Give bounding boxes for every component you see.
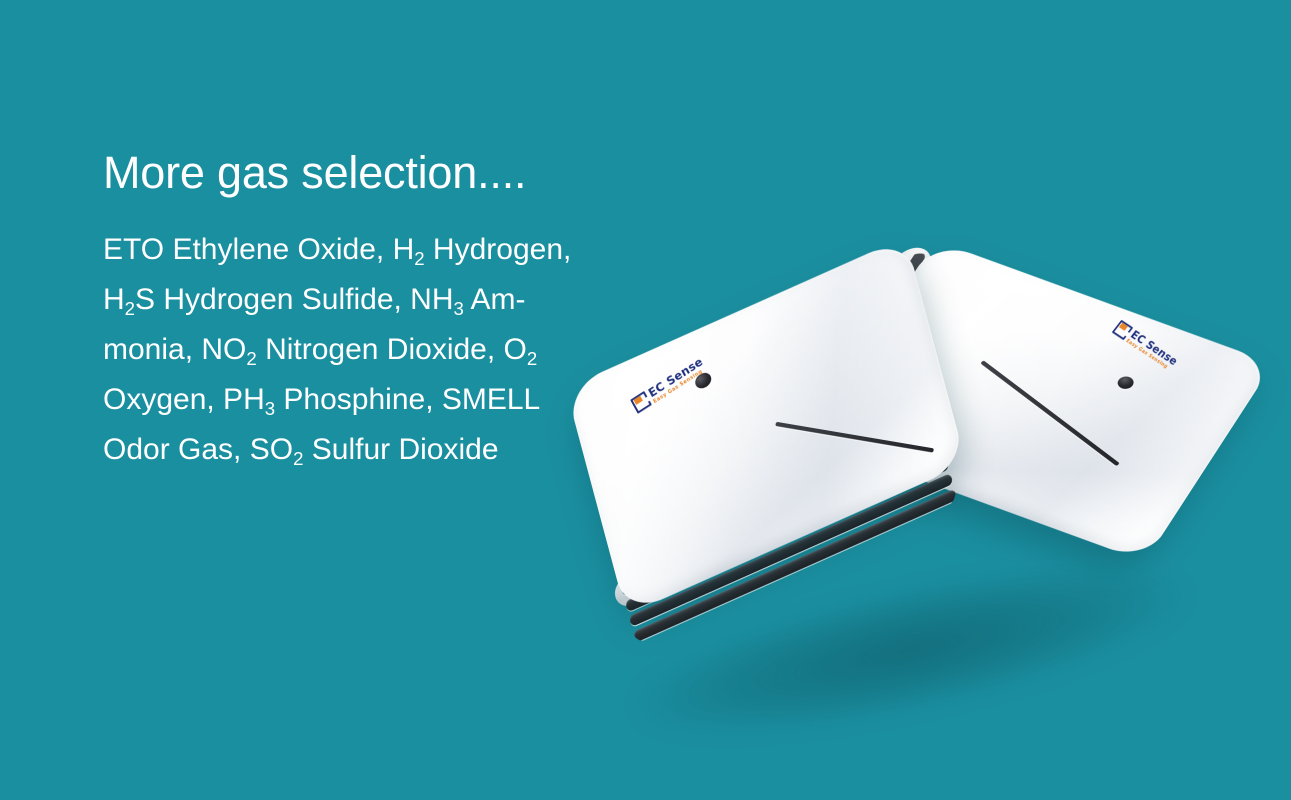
gas-list-line: H2S Hydrogen Sulfide, NH3 Am-	[103, 276, 575, 326]
slide-root: More gas selection.... ETO Ethylene Oxid…	[0, 0, 1291, 800]
gas-list-line: Odor Gas, SO2 Sulfur Dioxide	[103, 426, 575, 476]
product-image: EC Sense Easy Gas Sensing	[560, 290, 1260, 720]
gas-selection-list: ETO Ethylene Oxide, H2 Hydrogen, H2S Hyd…	[103, 226, 575, 476]
gas-list-line: monia, NO2 Nitrogen Dioxide, O2	[103, 326, 575, 376]
gas-list-line: ETO Ethylene Oxide, H2 Hydrogen,	[103, 226, 575, 276]
gas-list-line: Oxygen, PH3 Phosphine, SMELL	[103, 376, 575, 426]
page-title: More gas selection....	[103, 148, 603, 198]
gas-sensor-device-front: EC Sense Easy Gas Sensing	[566, 237, 967, 615]
text-block: More gas selection.... ETO Ethylene Oxid…	[103, 148, 603, 476]
